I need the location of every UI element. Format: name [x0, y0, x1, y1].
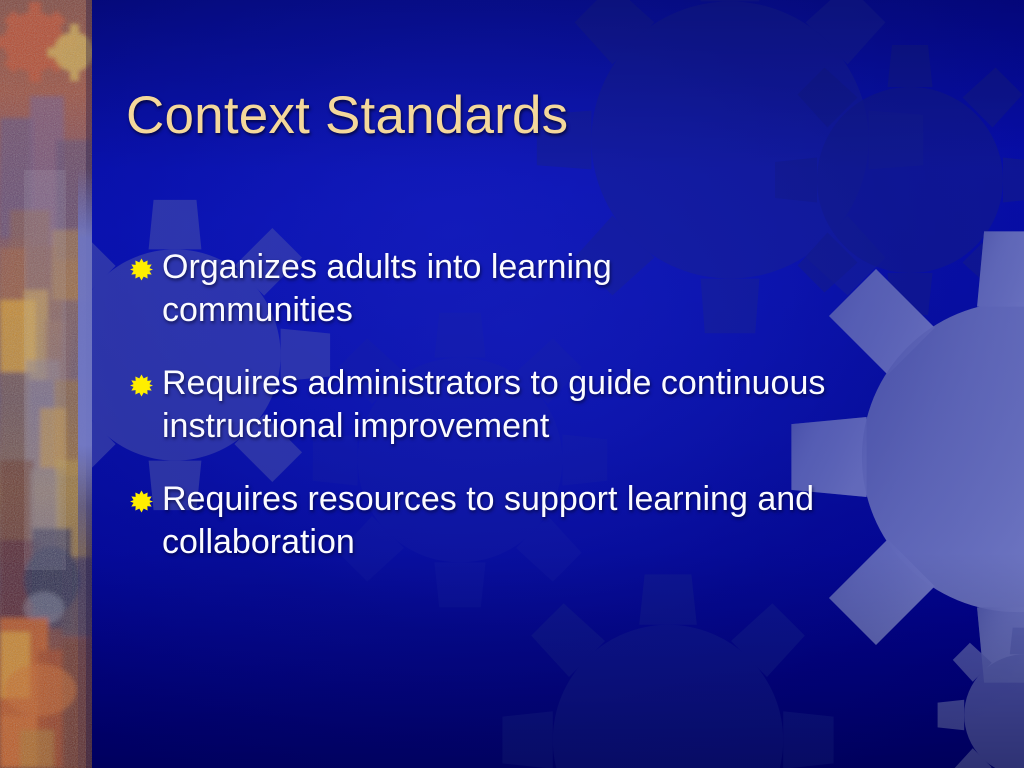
slide-body-bullet-list: Organizes adults into learning communiti… — [130, 246, 990, 564]
list-item-label: Organizes adults into learning communiti… — [162, 246, 782, 332]
left-decorative-strip — [0, 0, 92, 768]
presentation-slide: Context Standards Organizes adults into … — [0, 0, 1024, 768]
strip-blue-accent-edge — [78, 0, 92, 768]
list-item: Requires administrators to guide continu… — [130, 362, 990, 448]
list-item-label: Requires administrators to guide continu… — [162, 362, 962, 448]
list-item: Organizes adults into learning communiti… — [130, 246, 990, 332]
starburst-bullet-icon — [130, 478, 162, 513]
list-item-label: Requires resources to support learning a… — [162, 478, 990, 564]
starburst-bullet-icon — [130, 246, 162, 281]
slide-title: Context Standards — [126, 86, 886, 146]
starburst-bullet-icon — [130, 362, 162, 397]
list-item: Requires resources to support learning a… — [130, 478, 990, 564]
